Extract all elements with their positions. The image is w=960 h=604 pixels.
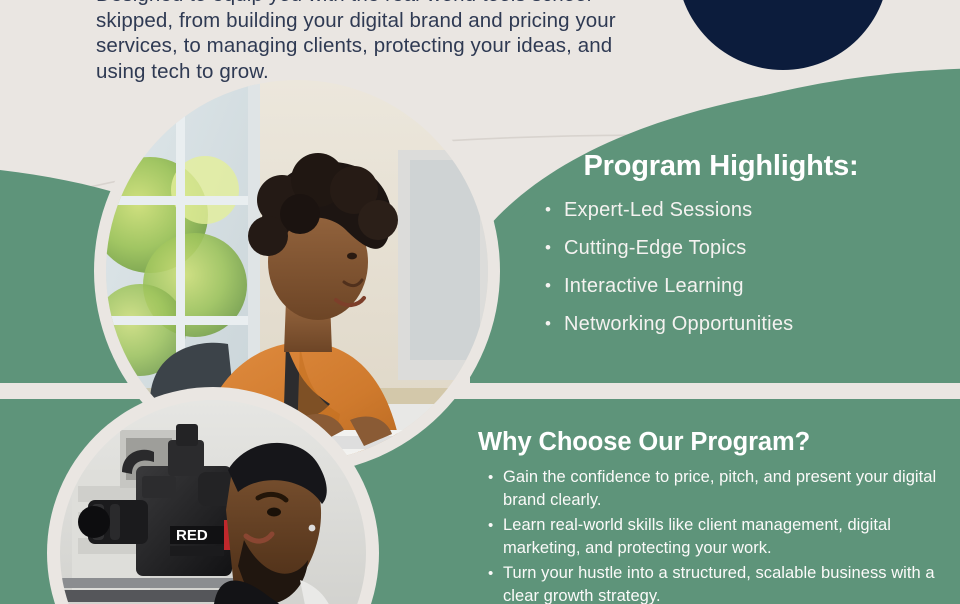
intro-paragraph: Designed to equip you with the real-worl… xyxy=(96,0,656,84)
highlight-item: Networking Opportunities xyxy=(564,305,946,343)
why-choose-list: Gain the confidence to price, pitch, and… xyxy=(478,466,948,604)
flyer-page: RED xyxy=(0,0,960,604)
why-choose-block: Why Choose Our Program? Gain the confide… xyxy=(478,428,948,604)
highlight-item: Expert-Led Sessions xyxy=(564,191,946,229)
why-choose-item: Turn your hustle into a structured, scal… xyxy=(503,562,948,604)
program-highlights-title: Program Highlights: xyxy=(496,150,946,183)
svg-text:RED: RED xyxy=(176,527,208,544)
why-choose-item: Learn real-world skills like client mana… xyxy=(503,514,948,560)
highlight-item: Interactive Learning xyxy=(564,267,946,305)
why-choose-title: Why Choose Our Program? xyxy=(478,428,948,457)
why-choose-item: Gain the confidence to price, pitch, and… xyxy=(503,466,948,512)
program-highlights-list: Expert-Led Sessions Cutting-Edge Topics … xyxy=(496,191,946,343)
highlight-item: Cutting-Edge Topics xyxy=(564,229,946,267)
program-highlights-block: Program Highlights: Expert-Led Sessions … xyxy=(496,150,946,343)
